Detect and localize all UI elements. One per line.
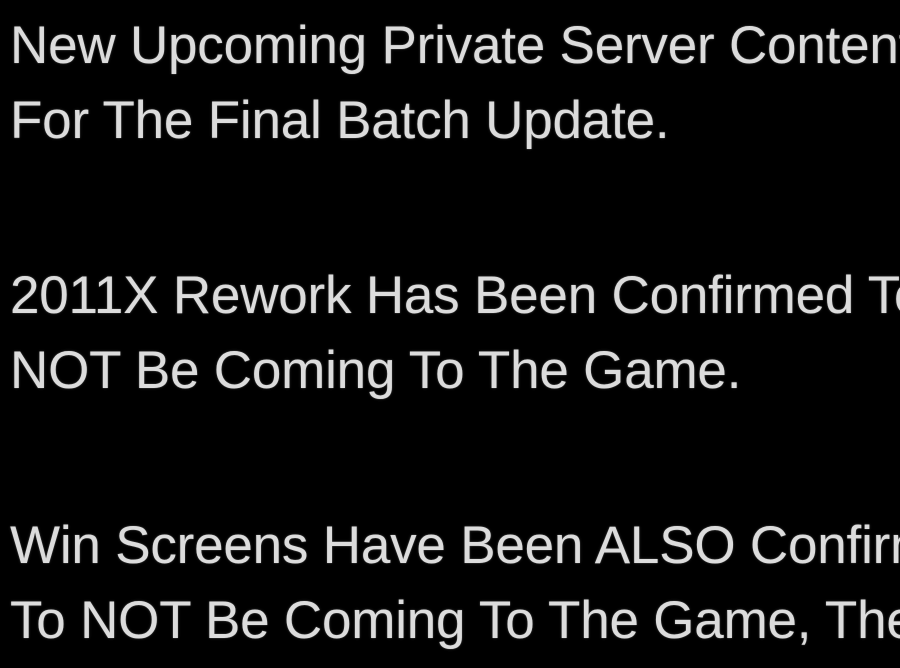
announcement-paragraph-2: 2011X Rework Has Been Confirmed To NOT B… [0, 258, 900, 408]
video-frame: New Upcoming Private Server Content For … [0, 0, 900, 668]
text-overlay: New Upcoming Private Server Content For … [0, 0, 900, 668]
announcement-line: Win Screens Have Been ALSO Confirmed [0, 508, 900, 583]
announcement-paragraph-3: Win Screens Have Been ALSO Confirmed To … [0, 508, 900, 658]
announcement-line: 2011X Rework Has Been Confirmed To [0, 258, 900, 333]
announcement-line: NOT Be Coming To The Game. [0, 333, 900, 408]
announcement-line: New Upcoming Private Server Content [0, 8, 900, 83]
announcement-line: For The Final Batch Update. [0, 83, 900, 158]
announcement-paragraph-1: New Upcoming Private Server Content For … [0, 8, 900, 158]
announcement-line: To NOT Be Coming To The Game, They [0, 583, 900, 658]
